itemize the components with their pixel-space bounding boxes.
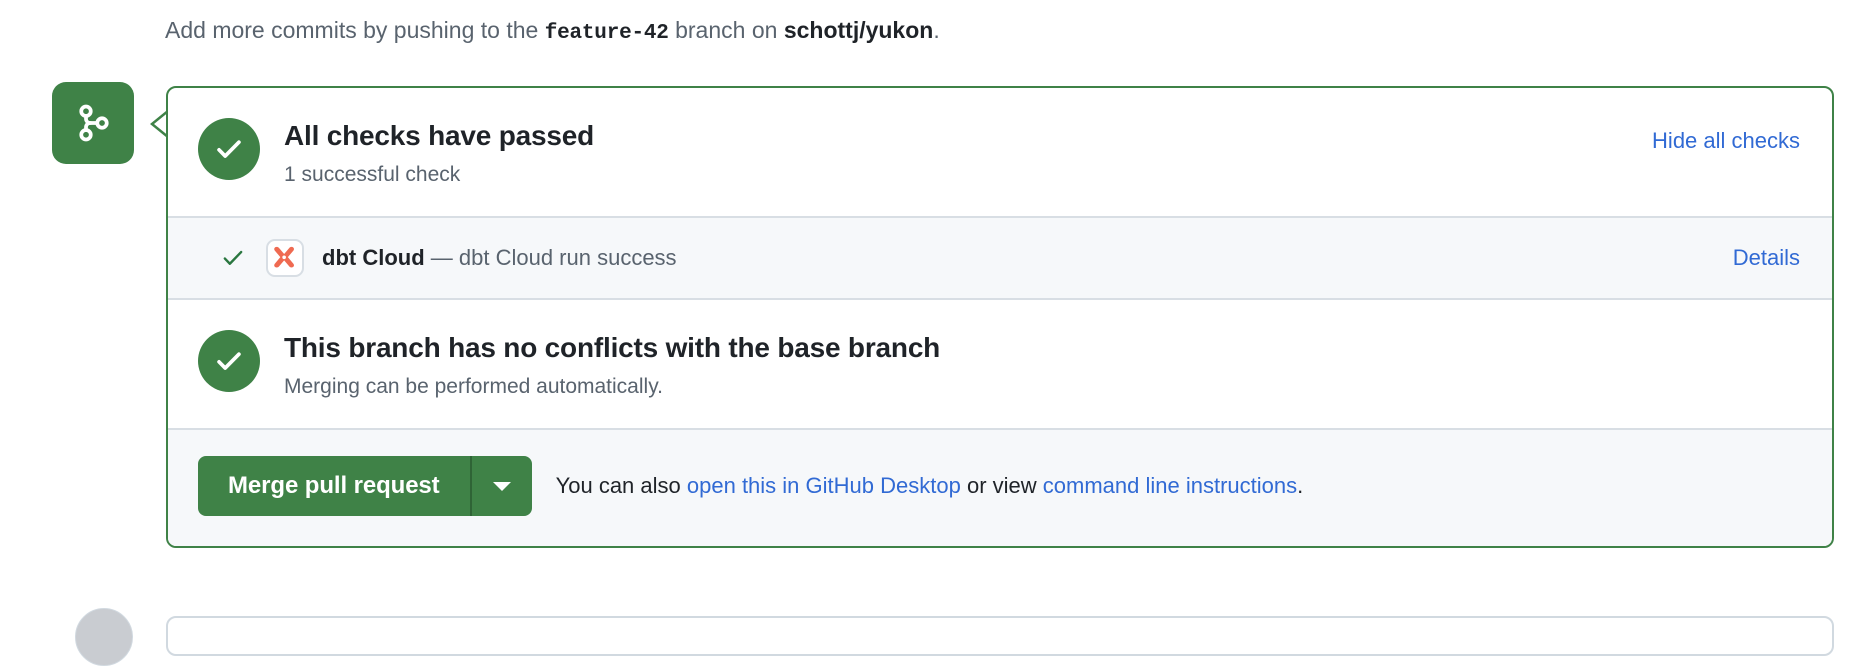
merge-button-group: Merge pull request	[198, 456, 532, 516]
command-line-instructions-link[interactable]: command line instructions	[1043, 473, 1297, 498]
merge-help-period: .	[1297, 473, 1303, 498]
merge-status-box: All checks have passed 1 successful chec…	[166, 86, 1834, 548]
pull-request-merge-panel: Add more commits by pushing to the featu…	[0, 0, 1868, 626]
merge-help-text: You can also open this in GitHub Desktop…	[556, 471, 1304, 501]
check-icon	[218, 245, 248, 271]
check-label: dbt Cloud — dbt Cloud run success	[322, 243, 677, 273]
push-notice-prefix: Add more commits by pushing to the	[165, 17, 538, 43]
merge-help-prefix: You can also	[556, 473, 681, 498]
git-merge-icon	[73, 103, 113, 143]
check-separator: —	[431, 245, 453, 270]
repository-name: schottj/yukon	[784, 17, 934, 43]
push-notice-period: .	[933, 17, 939, 43]
push-more-commits-notice: Add more commits by pushing to the featu…	[165, 14, 940, 50]
conflicts-title: This branch has no conflicts with the ba…	[284, 330, 940, 366]
conflicts-subtitle: Merging can be performed automatically.	[284, 372, 940, 402]
timeline-merge-badge	[52, 82, 134, 164]
checks-list: dbt Cloud — dbt Cloud run success Detail…	[168, 216, 1832, 300]
push-notice-middle: branch on	[675, 17, 777, 43]
check-circle-icon	[198, 330, 260, 392]
chevron-down-icon	[493, 482, 511, 491]
merge-pull-request-button[interactable]: Merge pull request	[198, 456, 470, 516]
check-circle-icon	[198, 118, 260, 180]
merge-help-middle: or view	[967, 473, 1037, 498]
check-description: dbt Cloud run success	[459, 245, 677, 270]
branch-name-code: feature-42	[545, 22, 669, 45]
check-details-link[interactable]: Details	[1733, 245, 1800, 271]
conflicts-section: This branch has no conflicts with the ba…	[168, 300, 1832, 428]
checks-summary-text: All checks have passed 1 successful chec…	[284, 116, 594, 190]
avatar	[75, 608, 133, 666]
comment-box	[166, 616, 1834, 656]
open-in-github-desktop-link[interactable]: open this in GitHub Desktop	[687, 473, 961, 498]
checks-summary-section: All checks have passed 1 successful chec…	[168, 88, 1832, 216]
merge-options-dropdown-button[interactable]	[470, 456, 532, 516]
dbt-cloud-logo-icon	[266, 239, 304, 277]
check-name: dbt Cloud	[322, 245, 425, 270]
checks-summary-subtitle: 1 successful check	[284, 160, 594, 190]
conflicts-text: This branch has no conflicts with the ba…	[284, 328, 940, 402]
hide-all-checks-link[interactable]: Hide all checks	[1652, 126, 1800, 156]
merge-footer: Merge pull request You can also open thi…	[168, 428, 1832, 546]
check-row[interactable]: dbt Cloud — dbt Cloud run success Detail…	[168, 218, 1832, 298]
checks-summary-title: All checks have passed	[284, 118, 594, 154]
